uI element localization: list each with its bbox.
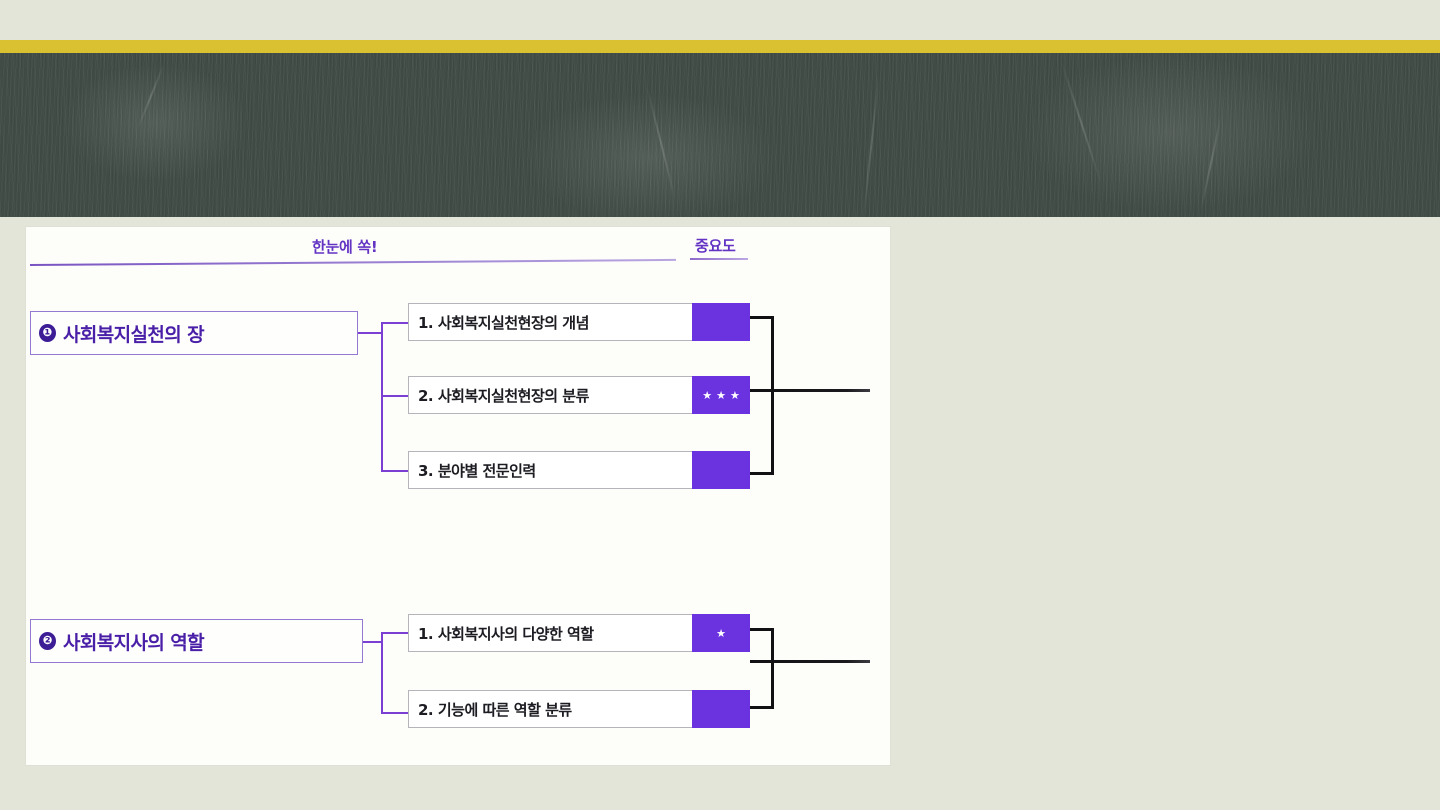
topic-row[interactable]: 1. 사회복지실천현장의 개념 bbox=[408, 303, 750, 341]
content-card: 한눈에 쏙! 중요도 ❶ 사회복지실천의 장 1. 사회복지실천현장의 개념 2… bbox=[26, 227, 890, 765]
chalk-smudge bbox=[520, 93, 780, 217]
connector-purple-branch-s2-t2 bbox=[381, 712, 409, 714]
section-title-2: 사회복지사의 역할 bbox=[63, 628, 204, 655]
connector-purple-branch-s1-t2 bbox=[381, 395, 409, 397]
yellow-accent-band bbox=[0, 40, 1440, 53]
star-icon: ★ bbox=[716, 628, 726, 639]
header-divider-rule bbox=[30, 259, 676, 266]
connector-purple-stub-s1 bbox=[358, 332, 382, 334]
section-heading-1[interactable]: ❶ 사회복지실천의 장 bbox=[30, 311, 358, 355]
topic-label: 1. 사회복지실천현장의 개념 bbox=[409, 304, 692, 340]
caption-at-a-glance: 한눈에 쏙! bbox=[312, 236, 377, 257]
bracket-lead-out-s2 bbox=[750, 660, 870, 663]
topic-row[interactable]: 1. 사회복지사의 다양한 역할 ★ bbox=[408, 614, 750, 652]
section-number-badge-1: ❶ bbox=[39, 324, 56, 342]
slide-canvas: 한눈에 쏙! 중요도 ❶ 사회복지실천의 장 1. 사회복지실천현장의 개념 2… bbox=[0, 0, 1440, 810]
topic-row[interactable]: 2. 사회복지실천현장의 분류 ★★★ bbox=[408, 376, 750, 414]
topic-row[interactable]: 3. 분야별 전문인력 bbox=[408, 451, 750, 489]
connector-purple-branch-s2-t1 bbox=[381, 632, 409, 634]
section-title-1: 사회복지실천의 장 bbox=[63, 320, 204, 347]
importance-rating bbox=[692, 690, 750, 728]
bracket-bottom-arm-s2 bbox=[750, 706, 774, 709]
importance-rating bbox=[692, 451, 750, 489]
connector-purple-spine-s2 bbox=[381, 632, 383, 714]
star-icon: ★ bbox=[730, 390, 740, 401]
star-icon: ★ bbox=[702, 390, 712, 401]
connector-purple-branch-s1-t3 bbox=[381, 470, 409, 472]
importance-underline-rule bbox=[690, 258, 748, 260]
bracket-spine-s1 bbox=[771, 316, 774, 475]
importance-rating bbox=[692, 303, 750, 341]
section-number-badge-2: ❷ bbox=[39, 632, 56, 650]
bracket-lead-out-s1 bbox=[750, 389, 870, 392]
importance-rating: ★ bbox=[692, 614, 750, 652]
bracket-spine-s2 bbox=[771, 628, 774, 709]
bracket-bottom-arm-s1 bbox=[750, 472, 774, 475]
topic-label: 2. 사회복지실천현장의 분류 bbox=[409, 377, 692, 413]
topic-label: 3. 분야별 전문인력 bbox=[409, 452, 692, 488]
topic-row[interactable]: 2. 기능에 따른 역할 분류 bbox=[408, 690, 750, 728]
star-icon: ★ bbox=[716, 390, 726, 401]
caption-importance: 중요도 bbox=[695, 235, 736, 256]
connector-purple-stub-s2 bbox=[363, 641, 383, 643]
connector-purple-branch-s1-t1 bbox=[381, 322, 409, 324]
importance-rating: ★★★ bbox=[692, 376, 750, 414]
section-heading-2[interactable]: ❷ 사회복지사의 역할 bbox=[30, 619, 363, 663]
topic-label: 1. 사회복지사의 다양한 역할 bbox=[409, 615, 692, 651]
topic-label: 2. 기능에 따른 역할 분류 bbox=[409, 691, 692, 727]
chalkboard-header-band bbox=[0, 53, 1440, 217]
